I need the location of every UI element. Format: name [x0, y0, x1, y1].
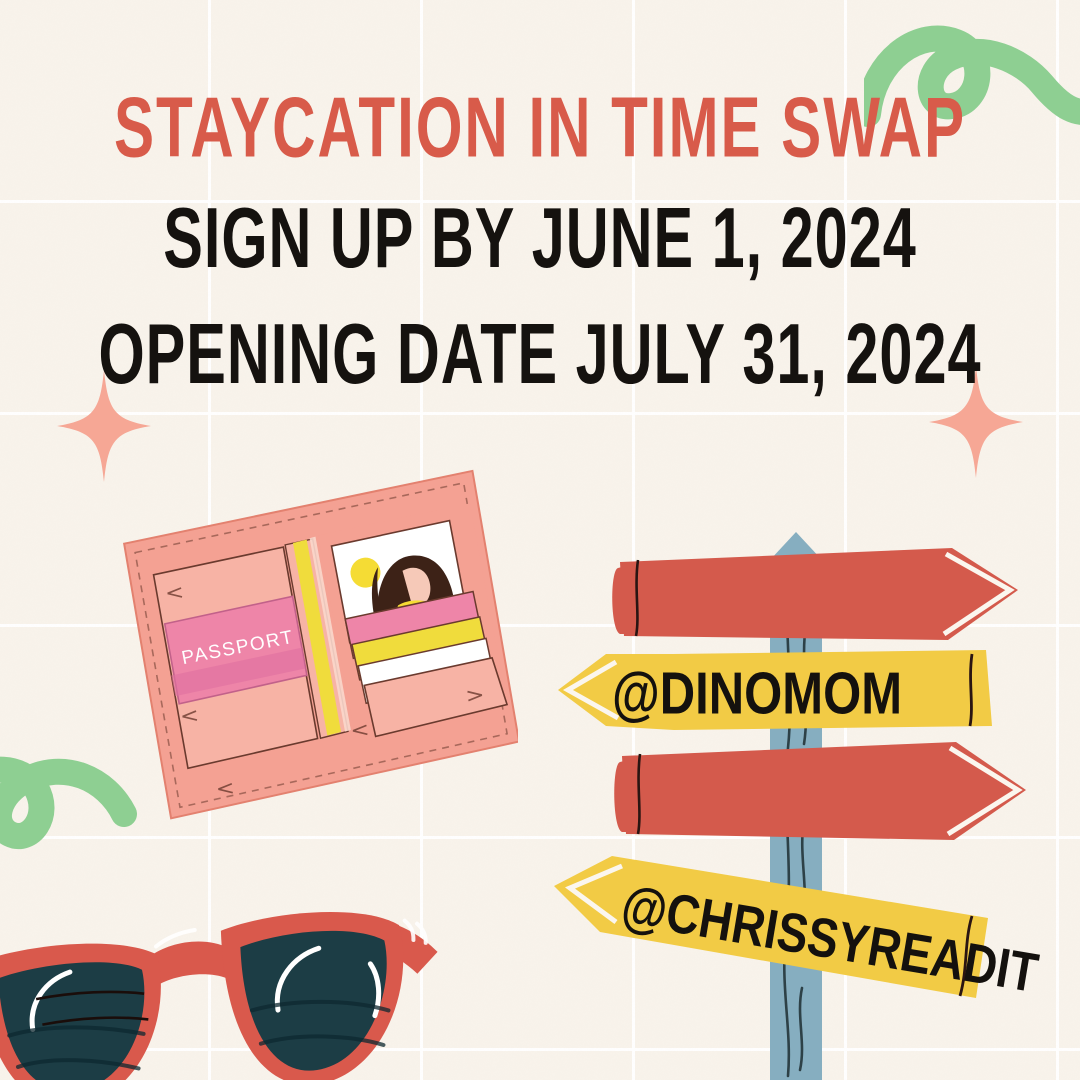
signup-deadline-line: SIGN UP BY JUNE 1, 2024	[5, 196, 1074, 281]
poster-canvas: STAYCATION IN TIME SWAP SIGN UP BY JUNE …	[0, 0, 1080, 1080]
opening-date-line: OPENING DATE JULY 31, 2024	[5, 312, 1074, 397]
sign-blank-arrow-top	[612, 548, 1018, 640]
sign-blank-arrow-middle	[614, 742, 1026, 840]
page-title: STAYCATION IN TIME SWAP	[16, 86, 1064, 172]
sunglasses-illustration	[0, 880, 444, 1080]
sign-handle-dinomom[interactable]	[558, 650, 992, 730]
signpost-illustration	[548, 518, 1048, 1080]
heading-block: STAYCATION IN TIME SWAP SIGN UP BY JUNE …	[0, 86, 1080, 372]
passport-wallet-illustration: PASSPORT	[118, 462, 518, 832]
